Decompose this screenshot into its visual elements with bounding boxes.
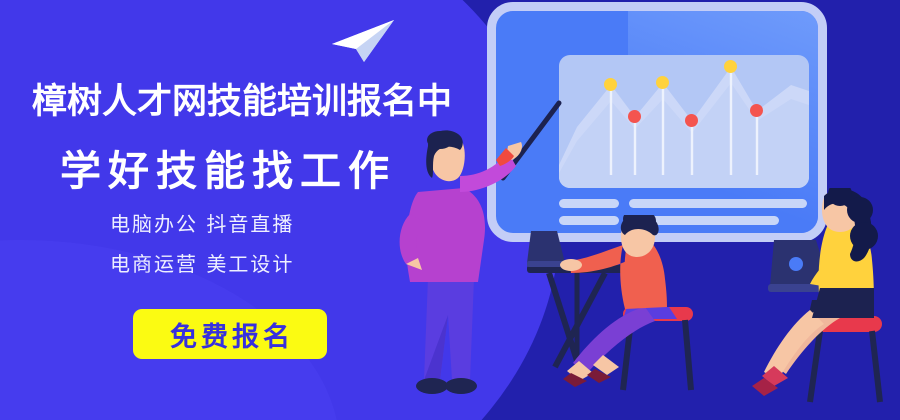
chart-marker-valley bbox=[685, 114, 698, 127]
headline-primary: 樟树人才网技能培训报名中 bbox=[32, 80, 442, 124]
copy-block: 樟树人才网技能培训报名中 学好技能找工作 电脑办公 抖音直播 电商运营 美工设计… bbox=[0, 0, 470, 420]
seated-student-figure bbox=[527, 215, 712, 420]
chart-marker-peak bbox=[604, 78, 617, 91]
chart-marker-valley bbox=[628, 110, 641, 123]
placeholder-text-bar bbox=[559, 199, 619, 208]
line-chart bbox=[559, 55, 809, 188]
headline-secondary: 学好技能找工作 bbox=[60, 145, 480, 197]
free-signup-button[interactable]: 免费报名 bbox=[133, 309, 327, 359]
chart-marker-peak bbox=[724, 60, 737, 73]
woman-with-laptop-figure bbox=[748, 188, 900, 420]
subline-courses-1: 电脑办公 抖音直播 bbox=[110, 209, 430, 239]
chart-marker-valley bbox=[750, 104, 763, 117]
chart-panel bbox=[559, 55, 809, 188]
promo-banner: 樟树人才网技能培训报名中 学好技能找工作 电脑办公 抖音直播 电商运营 美工设计… bbox=[0, 0, 900, 420]
chart-marker-peak bbox=[656, 76, 669, 89]
subline-courses-2: 电商运营 美工设计 bbox=[110, 249, 430, 279]
